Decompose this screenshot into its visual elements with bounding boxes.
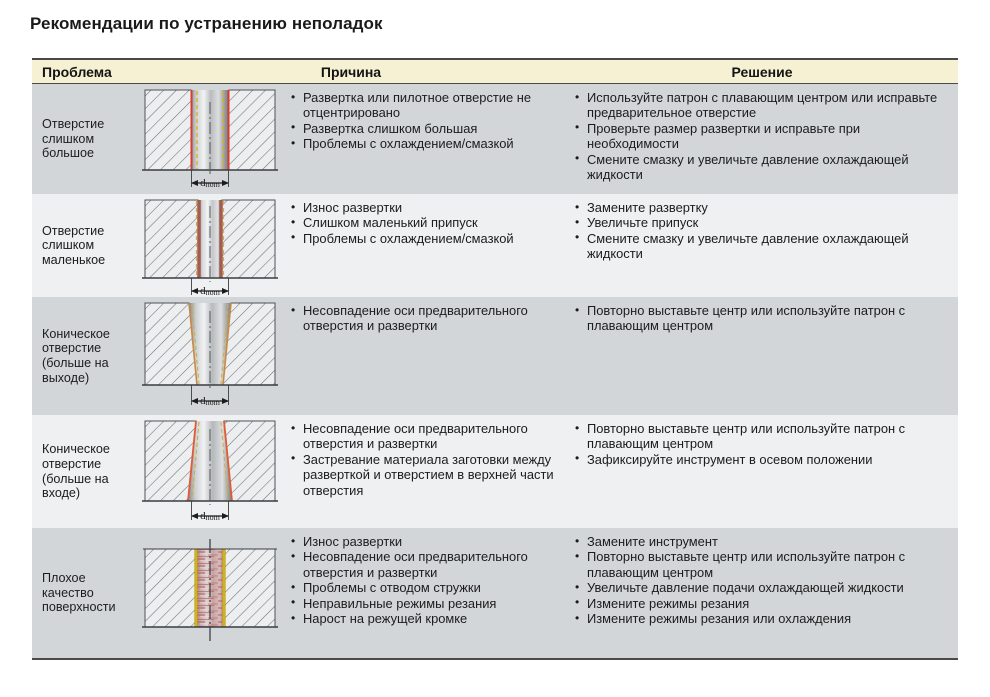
row-problem-label: Плохое качество поверхности [32,528,136,658]
row-diagram-cell: dnom [136,194,284,297]
row-cause-cell: Несовпадение оси предварительного отверс… [284,415,566,528]
troubleshooting-table: Проблема Причина Решение Отверстие слишк… [32,58,958,660]
tapered-hole-wider-at-exit-section: dnom [140,301,280,413]
row-diagram-cell [136,528,284,658]
list-item: Несовпадение оси предварительного отверс… [290,549,562,580]
row-solution-cell: Повторно выставьте центр или используйте… [566,297,958,415]
row-cause-cell: Развертка или пилотное отверстие не отце… [284,84,566,194]
list-item: Увеличьте давление подачи охлаждающей жи… [574,580,952,595]
list-item: Измените режимы резания [574,596,952,611]
list-item: Износ развертки [290,200,562,215]
row-cause-cell: Износ развертки Несовпадение оси предвар… [284,528,566,658]
list-item: Смените смазку и увеличьте давление охла… [574,231,952,262]
dimension-label: dnom [200,177,221,189]
list-item: Проверьте размер развертки и исправьте п… [574,121,952,152]
solution-list: Повторно выставьте центр или используйте… [574,421,952,467]
hole-too-large-section: dnom [140,88,280,192]
cause-list: Износ развертки Слишком маленький припус… [290,200,562,246]
dimension-label: dnom [200,510,221,522]
column-header-solution: Решение [566,64,958,80]
list-item: Несовпадение оси предварительного отверс… [290,303,562,334]
row-solution-cell: Используйте патрон с плавающим центром и… [566,84,958,194]
table-header-row: Проблема Причина Решение [32,60,958,84]
list-item: Развертка или пилотное отверстие не отце… [290,90,562,121]
table-row: Отверстие слишком большое [32,84,958,194]
table-row: Коническое отверстие (больше на выходе) [32,297,958,415]
list-item: Застревание материала заготовки между ра… [290,452,562,498]
row-problem-label: Отверстие слишком маленькое [32,194,136,297]
list-item: Используйте патрон с плавающим центром и… [574,90,952,121]
cause-list: Износ развертки Несовпадение оси предвар… [290,534,562,626]
row-solution-cell: Замените инструмент Повторно выставьте ц… [566,528,958,658]
column-header-problem: Проблема [32,64,136,80]
list-item: Проблемы с отводом стружки [290,580,562,595]
list-item: Неправильные режимы резания [290,596,562,611]
list-item: Проблемы с охлаждением/смазкой [290,231,562,246]
list-item: Измените режимы резания или охлаждения [574,611,952,626]
list-item: Зафиксируйте инструмент в осевом положен… [574,452,952,467]
row-problem-label: Коническое отверстие (больше на входе) [32,415,136,528]
list-item: Повторно выставьте центр или используйте… [574,303,952,334]
list-item: Замените развертку [574,200,952,215]
dimension-label: dnom [200,285,221,297]
row-diagram-cell: dnom [136,415,284,528]
column-header-cause: Причина [136,64,566,80]
solution-list: Замените развертку Увеличьте припуск Сме… [574,200,952,262]
row-problem-label: Коническое отверстие (больше на выходе) [32,297,136,415]
dimension-label: dnom [200,395,221,407]
row-diagram-cell: dnom [136,84,284,194]
tapered-hole-wider-at-entry-section: dnom [140,419,280,527]
row-solution-cell: Повторно выставьте центр или используйте… [566,415,958,528]
hole-too-small-section: dnom [140,198,280,298]
cause-list: Несовпадение оси предварительного отверс… [290,421,562,498]
list-item: Замените инструмент [574,534,952,549]
row-cause-cell: Несовпадение оси предварительного отверс… [284,297,566,415]
solution-list: Повторно выставьте центр или используйте… [574,303,952,334]
list-item: Слишком маленький припуск [290,215,562,230]
list-item: Повторно выставьте центр или используйте… [574,549,952,580]
table-row: Отверстие слишком маленькое [32,194,958,297]
row-problem-label: Отверстие слишком большое [32,84,136,194]
cause-list: Несовпадение оси предварительного отверс… [290,303,562,334]
list-item: Проблемы с охлаждением/смазкой [290,136,562,151]
solution-list: Замените инструмент Повторно выставьте ц… [574,534,952,626]
list-item: Повторно выставьте центр или используйте… [574,421,952,452]
cause-list: Развертка или пилотное отверстие не отце… [290,90,562,152]
list-item: Нарост на режущей кромке [290,611,562,626]
list-item: Развертка слишком большая [290,121,562,136]
table-row: Плохое качество поверхности [32,528,958,658]
row-solution-cell: Замените развертку Увеличьте припуск Сме… [566,194,958,297]
list-item: Износ развертки [290,534,562,549]
table-row: Коническое отверстие (больше на входе) [32,415,958,528]
page-title: Рекомендации по устранению неполадок [30,14,383,34]
poor-surface-finish-section [140,537,280,649]
list-item: Увеличьте припуск [574,215,952,230]
list-item: Несовпадение оси предварительного отверс… [290,421,562,452]
solution-list: Используйте патрон с плавающим центром и… [574,90,952,182]
list-item: Смените смазку и увеличьте давление охла… [574,152,952,183]
row-cause-cell: Износ развертки Слишком маленький припус… [284,194,566,297]
row-diagram-cell: dnom [136,297,284,415]
